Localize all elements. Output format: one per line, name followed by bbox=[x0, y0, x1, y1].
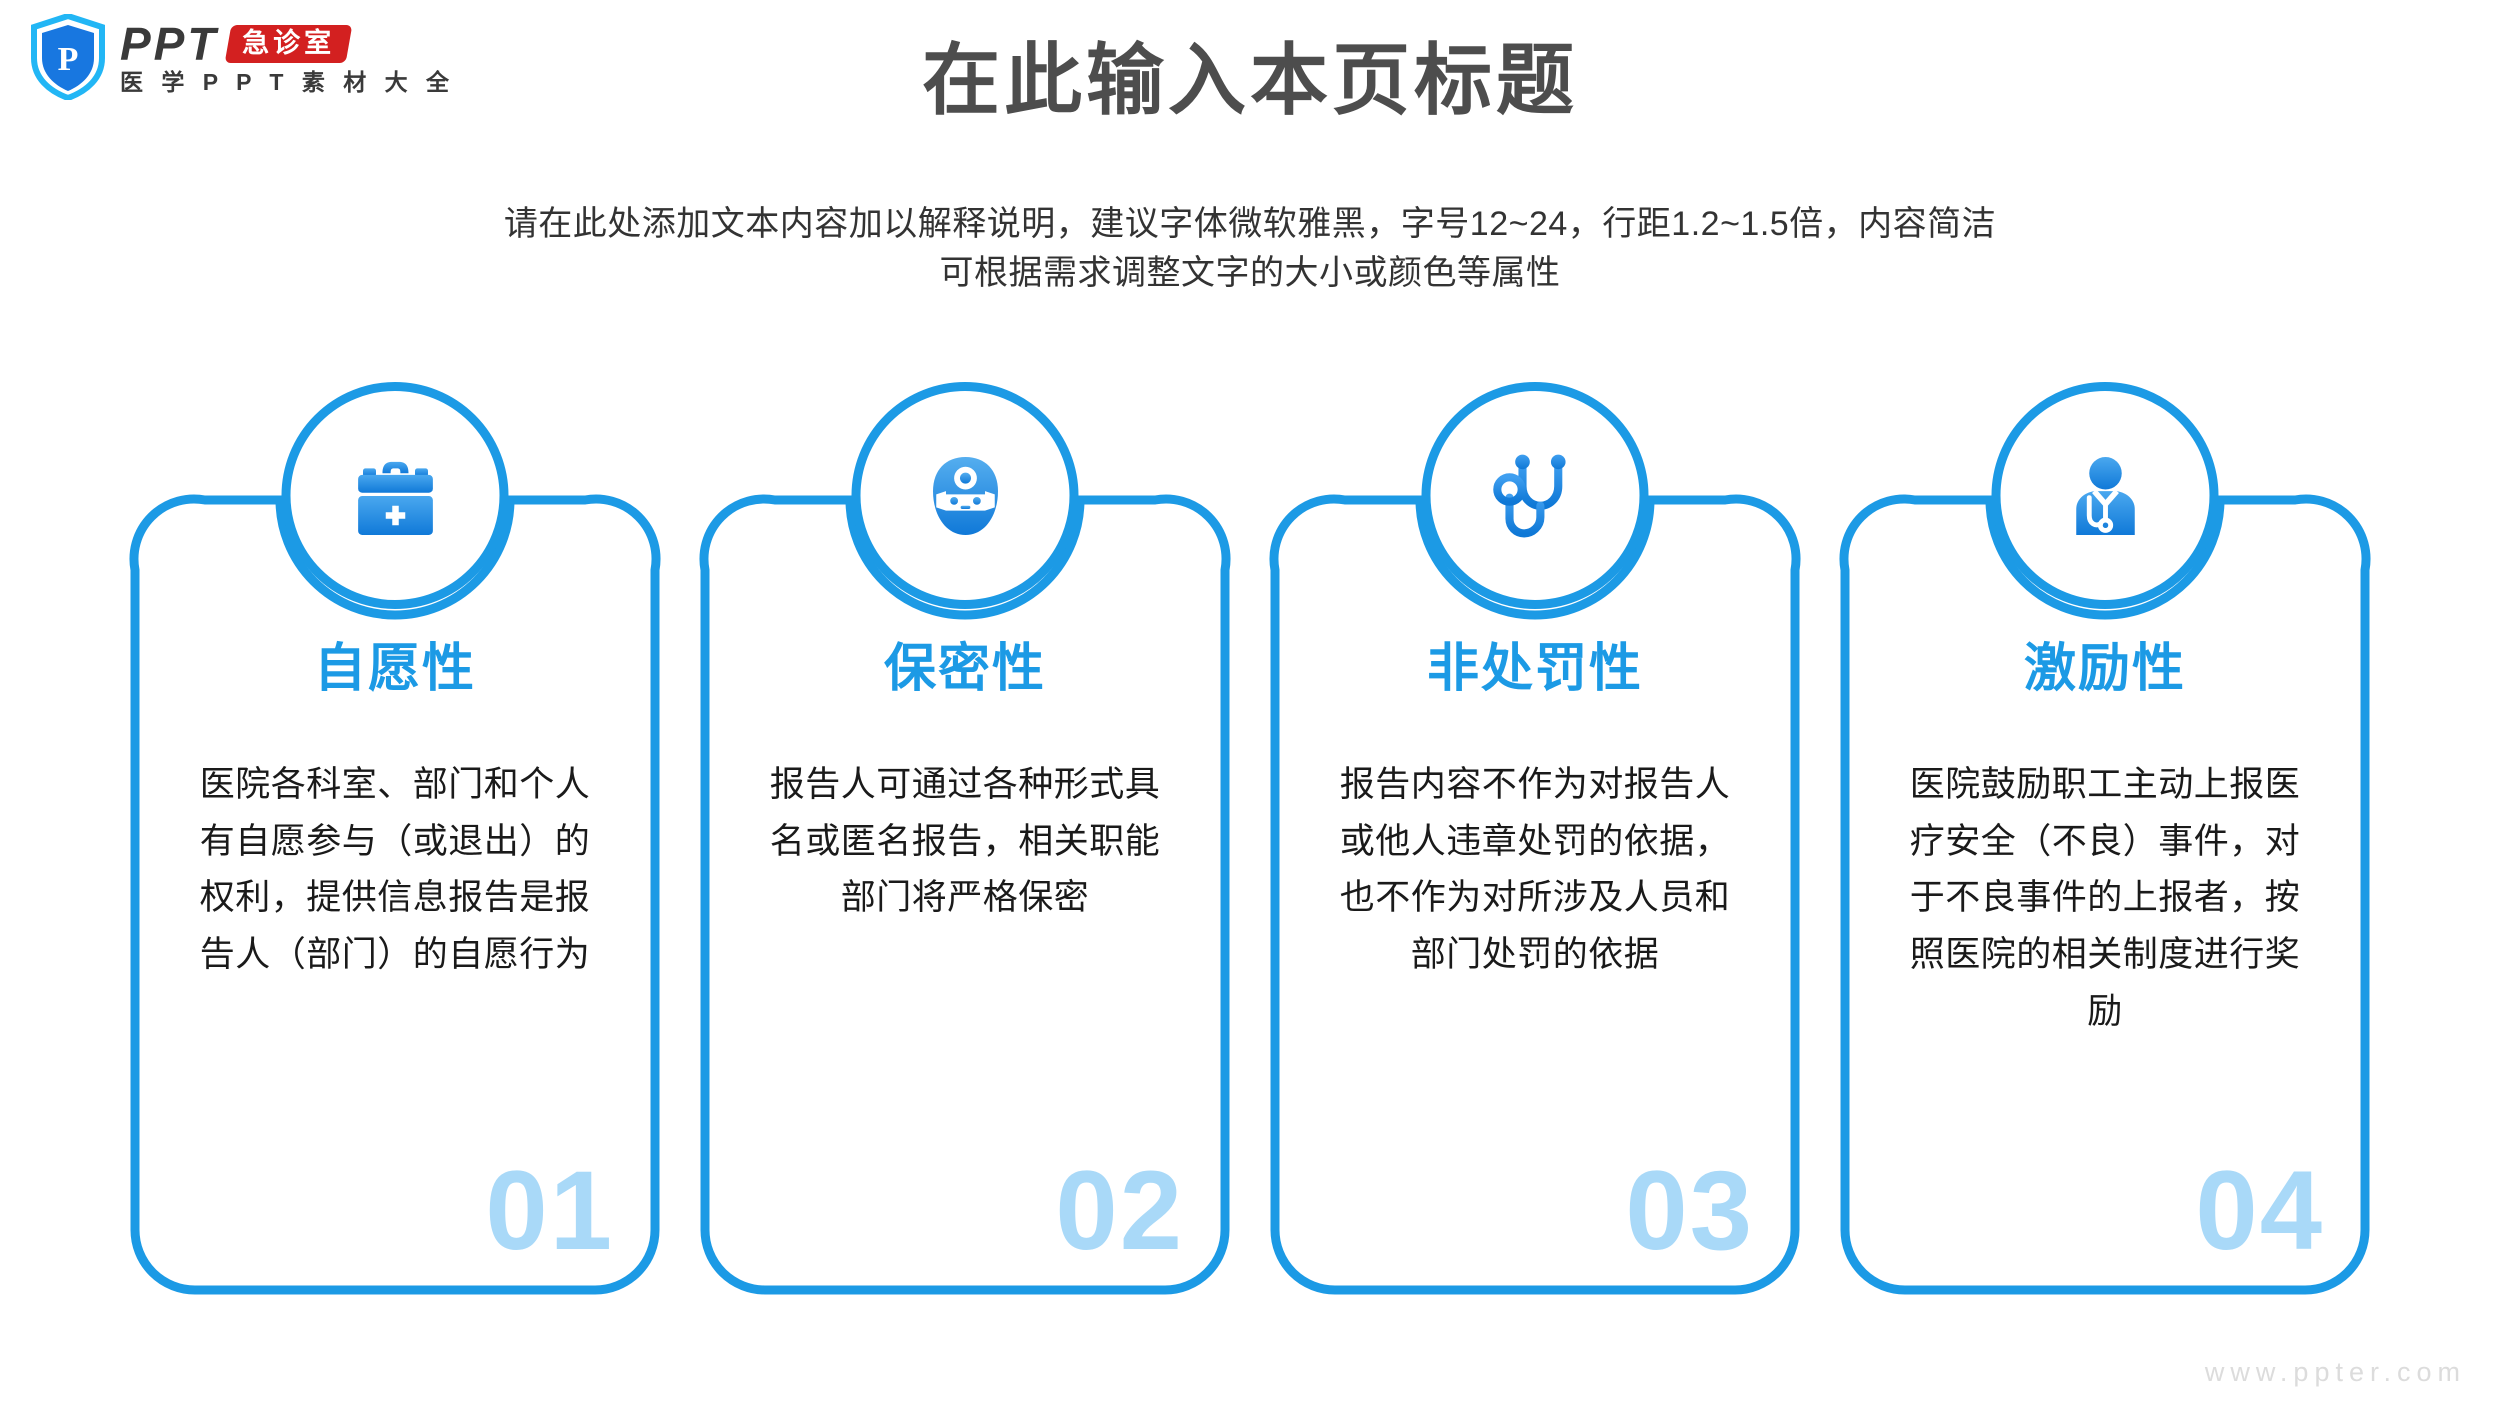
stethoscope-icon bbox=[1483, 444, 1587, 548]
card-body: 医院各科室、部门和个人有自愿参与（或退出）的权利，提供信息报告是报告人（部门）的… bbox=[185, 757, 605, 984]
card-heading: 非处罚性 bbox=[1427, 643, 1643, 695]
card-body: 医院鼓励职工主动上报医疗安全（不良）事件，对于不良事件的上报者，按照医院的相关制… bbox=[1895, 757, 2315, 1040]
card-item[interactable]: 自愿性 医院各科室、部门和个人有自愿参与（或退出）的权利，提供信息报告是报告人（… bbox=[130, 495, 660, 1295]
card-body: 报告内容不作为对报告人或他人违章处罚的依据，也不作为对所涉及人员和部门处罚的依据 bbox=[1325, 757, 1745, 984]
card-heading: 保密性 bbox=[884, 643, 1046, 695]
card-item[interactable]: 激励性 医院鼓励职工主动上报医疗安全（不良）事件，对于不良事件的上报者，按照医院… bbox=[1840, 495, 2370, 1295]
card-item[interactable]: 保密性 报告人可通过各种形式具名或匿名报告，相关职能部门将严格保密 02 bbox=[700, 495, 1230, 1295]
card-body: 报告人可通过各种形式具名或匿名报告，相关职能部门将严格保密 bbox=[755, 757, 1175, 927]
card-icon-circle bbox=[852, 382, 1079, 609]
card-icon-circle bbox=[1992, 382, 2219, 609]
card-item[interactable]: 非处罚性 报告内容不作为对报告人或他人违章处罚的依据，也不作为对所涉及人员和部门… bbox=[1270, 495, 1800, 1295]
card-icon-circle bbox=[1422, 382, 1649, 609]
page-title: 在此输入本页标题 bbox=[0, 38, 2500, 122]
doctor-person-icon bbox=[2053, 444, 2157, 548]
card-list: 自愿性 医院各科室、部门和个人有自愿参与（或退出）的权利，提供信息报告是报告人（… bbox=[130, 495, 2370, 1295]
card-number: 04 bbox=[2195, 1155, 2324, 1267]
page-subtitle-line-2: 可根据需求调整文字的大小或颜色等属性 bbox=[0, 249, 2500, 298]
card-number: 03 bbox=[1625, 1155, 1754, 1267]
card-heading: 自愿性 bbox=[314, 643, 476, 695]
page-subtitle-line-1: 请在此处添加文本内容加以解释说明，建议字体微软雅黑，字号12~24，行距1.2~… bbox=[0, 200, 2500, 249]
site-watermark: www.ppter.com bbox=[2205, 1357, 2466, 1388]
card-number: 02 bbox=[1055, 1155, 1184, 1267]
doctor-face-mask-icon bbox=[913, 444, 1017, 548]
card-icon-circle bbox=[282, 382, 509, 609]
page-subtitle: 请在此处添加文本内容加以解释说明，建议字体微软雅黑，字号12~24，行距1.2~… bbox=[0, 200, 2500, 299]
card-heading: 激励性 bbox=[2024, 643, 2186, 695]
card-number: 01 bbox=[485, 1155, 614, 1267]
first-aid-kit-icon bbox=[343, 444, 447, 548]
